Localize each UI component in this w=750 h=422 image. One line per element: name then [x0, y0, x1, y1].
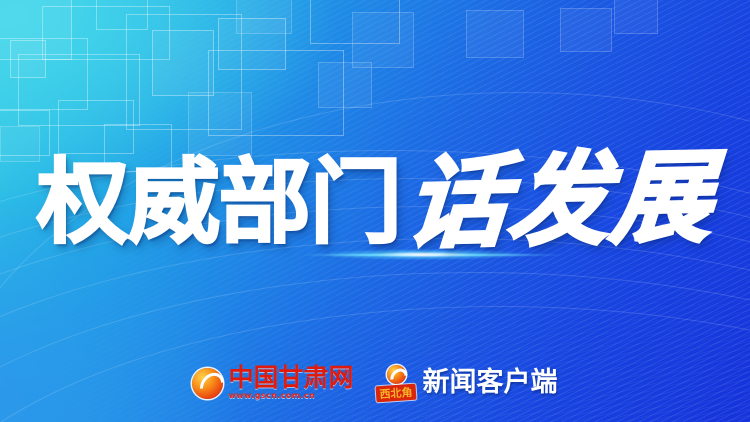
logo-news-client[interactable]: 西北角 新闻客户端 [376, 363, 558, 403]
logo-gscn[interactable]: 中国甘肃网 www.gscn.com.cn [192, 363, 353, 403]
logo-gscn-marks [192, 368, 223, 399]
swirl-flame-icon [192, 368, 223, 399]
logo-gscn-name: 中国甘肃网 [228, 365, 353, 390]
page-title: 权威部门 话发展 [0, 143, 750, 263]
logo-news-client-name: 新闻客户端 [423, 369, 558, 397]
promo-banner: 权威部门 话发展 中国甘肃网 www.gscn.com.cn 西北角 新闻客户端 [0, 0, 750, 422]
headline-part-bold: 权威部门 [37, 157, 401, 249]
headline-part-calligraphy: 话发展 [404, 147, 717, 253]
swirl-flame-icon [387, 365, 406, 384]
logo-gscn-text: 中国甘肃网 www.gscn.com.cn [228, 365, 353, 401]
logo-xibeijiao-label: 西北角 [375, 384, 416, 403]
logo-xibeijiao-stamp: 西北角 [376, 365, 416, 401]
footer-logo-bar: 中国甘肃网 www.gscn.com.cn 西北角 新闻客户端 [0, 361, 750, 405]
logo-gscn-url: www.gscn.com.cn [228, 391, 315, 401]
